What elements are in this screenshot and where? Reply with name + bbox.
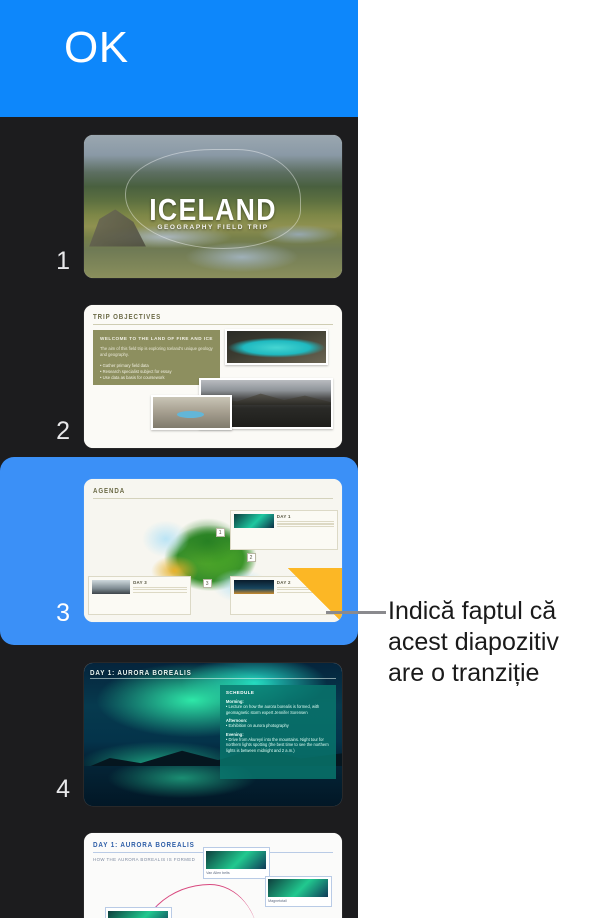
card-rule [277, 587, 334, 588]
title-rule [90, 678, 336, 679]
objectives-bullet: • Use data as basis for coursework [100, 375, 213, 381]
slide-title: ICELAND [102, 194, 324, 225]
slide-row[interactable]: 5 DAY 1: AURORA BOREALIS HOW THE AURORA … [0, 815, 358, 918]
card-rule [133, 587, 187, 588]
slide-row-selected[interactable]: 3 AGENDA 1 2 3 DAY 1 [0, 457, 358, 645]
card-rule [277, 523, 334, 524]
map-pin: 2 [247, 553, 256, 562]
card-thumbnail-ice [92, 580, 130, 594]
slide-thumbnail[interactable]: TRIP OBJECTIVES WELCOME TO THE LAND OF F… [84, 305, 342, 448]
diagram-photo-card: Van Allen belts [203, 847, 270, 879]
ok-toolbar: OK [0, 0, 358, 117]
card-thumbnail-aurora [108, 911, 168, 918]
slide-number: 4 [42, 775, 70, 803]
slide-row[interactable]: 4 DAY 1: AURORA BOREALIS SCHEDULE Mornin… [0, 645, 358, 815]
card-thumbnail-aurora [268, 879, 328, 897]
title-rule [93, 498, 333, 499]
callout-text: Indică faptul că acest diapozitiv are o … [388, 596, 606, 689]
map-pin: 3 [203, 579, 212, 588]
slide-row[interactable]: 1 ICELAND GEOGRAPHY FIELD TRIP [0, 117, 358, 287]
schedule-box: SCHEDULE Morning: • Lecture on how the a… [220, 685, 336, 779]
slide-number: 2 [42, 417, 70, 445]
callout-line-3: are o tranziție [388, 658, 606, 689]
map-pin: 1 [216, 528, 225, 537]
slide-artwork: ICELAND GEOGRAPHY FIELD TRIP [84, 135, 342, 278]
card-thumbnail-night [234, 580, 274, 594]
card-rule [133, 589, 187, 590]
card-label: DAY 1 [277, 514, 334, 519]
slide-thumbnail[interactable]: DAY 1: AURORA BOREALIS HOW THE AURORA BO… [84, 833, 342, 918]
schedule-text: • Exhibition on aurora photography [226, 723, 330, 729]
card-rule [277, 521, 334, 522]
schedule-text: • Lecture on how the aurora borealis is … [226, 704, 330, 715]
title-rule [93, 324, 333, 325]
card-thumbnail-aurora [206, 851, 266, 869]
objectives-heading: WELCOME TO THE LAND OF FIRE AND ICE [100, 336, 213, 341]
objectives-paragraph: The aim of this field trip is exploring … [100, 346, 213, 358]
card-rule [277, 589, 334, 590]
slide-number: 1 [42, 247, 70, 275]
slide-artwork: AGENDA 1 2 3 DAY 1 [84, 479, 342, 622]
card-rule [277, 526, 334, 527]
slide-row[interactable]: 2 TRIP OBJECTIVES WELCOME TO THE LAND OF… [0, 287, 358, 457]
slide-title: AGENDA [93, 486, 290, 495]
card-caption: Magnetotail [268, 899, 328, 904]
card-text: DAY 1 [277, 514, 334, 546]
card-rule [277, 592, 334, 593]
diagram-photo-card: Magnetotail [265, 876, 332, 908]
screenshot-root: OK 1 ICELAND GEOGRAPHY FIELD TRIP 2 TRIP [0, 0, 606, 918]
photo-geothermal [151, 395, 233, 430]
objectives-box: WELCOME TO THE LAND OF FIRE AND ICE The … [93, 330, 220, 385]
callout-line-1: Indică faptul că [388, 596, 606, 627]
agenda-card: DAY 1 [230, 510, 338, 550]
schedule-heading: SCHEDULE [226, 690, 330, 695]
ok-button[interactable]: OK [64, 22, 129, 74]
slide-artwork: DAY 1: AURORA BOREALIS HOW THE AURORA BO… [84, 833, 342, 918]
slide-subtitle: GEOGRAPHY FIELD TRIP [84, 224, 342, 231]
card-caption: Van Allen belts [206, 871, 266, 876]
slide-thumbnail[interactable]: ICELAND GEOGRAPHY FIELD TRIP [84, 135, 342, 278]
callout-leader-line [326, 611, 386, 614]
callout-line-2: acest diapozitiv [388, 627, 606, 658]
slide-title: TRIP OBJECTIVES [93, 312, 290, 321]
agenda-card: DAY 2 [230, 576, 338, 615]
slide-navigator[interactable]: 1 ICELAND GEOGRAPHY FIELD TRIP 2 TRIP OB… [0, 117, 358, 918]
schedule-text: • Drive from Akureyri into the mountains… [226, 737, 330, 754]
card-thumbnail-aurora [234, 514, 274, 528]
slide-thumbnail[interactable]: DAY 1: AURORA BOREALIS SCHEDULE Morning:… [84, 663, 342, 806]
slide-artwork: TRIP OBJECTIVES WELCOME TO THE LAND OF F… [84, 305, 342, 448]
slide-title: DAY 1: AURORA BOREALIS [90, 668, 192, 677]
slide-number: 3 [42, 599, 70, 627]
agenda-card: DAY 3 [88, 576, 191, 615]
diagram-photo-card: Sun wind [105, 907, 172, 918]
card-label: DAY 2 [277, 580, 334, 585]
card-rule [133, 592, 187, 593]
slide-thumbnail[interactable]: AGENDA 1 2 3 DAY 1 [84, 479, 342, 622]
slide-artwork: DAY 1: AURORA BOREALIS SCHEDULE Morning:… [84, 663, 342, 806]
photo-lagoon [225, 329, 328, 365]
card-text: DAY 3 [133, 580, 187, 611]
slide-body: WELCOME TO THE LAND OF FIRE AND ICE The … [93, 330, 333, 418]
card-label: DAY 3 [133, 580, 187, 585]
card-text: DAY 2 [277, 580, 334, 611]
